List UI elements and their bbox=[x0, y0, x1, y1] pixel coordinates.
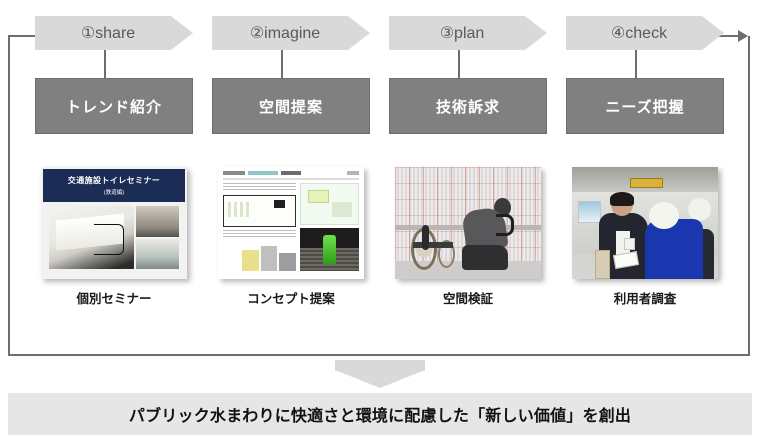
sheet-divider bbox=[223, 178, 359, 180]
step-box-2[interactable]: 空間提案 bbox=[212, 78, 370, 134]
caption-3: 空間検証 bbox=[389, 288, 547, 307]
surveyor-name-badge bbox=[624, 238, 635, 250]
connector-tick-1 bbox=[104, 50, 106, 78]
chevron-step-3[interactable]: ③plan bbox=[389, 16, 547, 50]
surveyor-person bbox=[595, 194, 650, 279]
process-step-imagine[interactable]: ②imagine 空間提案 bbox=[212, 16, 370, 50]
horizontal-grab-bar bbox=[496, 214, 514, 236]
step-box-1[interactable]: トレンド紹介 bbox=[35, 78, 193, 134]
chevron-label-3: ③plan bbox=[440, 23, 485, 43]
concept-proposal-sheet-image bbox=[218, 167, 364, 279]
respondent-1-face-blurred bbox=[649, 202, 679, 229]
step-box-label-1: トレンド紹介 bbox=[66, 96, 162, 117]
sheet-column-left bbox=[223, 183, 296, 271]
mockup-space-photo bbox=[395, 167, 541, 279]
step-box-label-3: 技術訴求 bbox=[436, 96, 500, 117]
respondents bbox=[645, 198, 712, 279]
chevron-label-4: ④check bbox=[611, 23, 667, 43]
thumbnail-3[interactable] bbox=[395, 167, 541, 279]
restroom-photo-column bbox=[136, 206, 179, 269]
chevron-label-1: ①share bbox=[81, 23, 135, 43]
section-cut-diagram bbox=[300, 228, 359, 271]
concept-illustration bbox=[300, 183, 359, 225]
person-legs bbox=[462, 245, 508, 270]
person-transferring bbox=[462, 196, 512, 270]
sheet-text-block-2 bbox=[223, 230, 296, 239]
surveyor-hair bbox=[610, 192, 634, 206]
process-cycle-diagram: ①share トレンド紹介 交通施設トイレセミナー (鉄道編) bbox=[0, 0, 760, 443]
seminar-slide-subtitle: (鉄道編) bbox=[104, 188, 124, 196]
sheet-header-logo bbox=[347, 171, 359, 175]
connector-tick-4 bbox=[635, 50, 637, 78]
sheet-header bbox=[223, 171, 359, 175]
process-step-check[interactable]: ④check ニーズ把握 bbox=[566, 16, 724, 50]
process-step-plan[interactable]: ③plan 技術訴求 bbox=[389, 16, 547, 50]
caption-4: 利用者調査 bbox=[566, 288, 724, 307]
process-step-share[interactable]: ①share トレンド紹介 交通施設トイレセミナー (鉄道編) bbox=[35, 16, 193, 50]
seminar-slide-header: 交通施設トイレセミナー (鉄道編) bbox=[43, 169, 185, 202]
cycle-rail-right bbox=[748, 36, 750, 356]
step-box-3[interactable]: 技術訴求 bbox=[389, 78, 547, 134]
restroom-photo-main bbox=[49, 206, 134, 269]
connector-tick-3 bbox=[458, 50, 460, 78]
step-box-label-4: ニーズ把握 bbox=[605, 96, 684, 117]
respondent-2-face-blurred bbox=[688, 198, 711, 221]
down-arrow-icon bbox=[335, 370, 425, 388]
sheet-column-right bbox=[300, 183, 359, 271]
connector-tick-2 bbox=[281, 50, 283, 78]
seminar-slide-body bbox=[43, 202, 185, 273]
cycle-rail-bottom bbox=[8, 354, 750, 356]
step-box-label-2: 空間提案 bbox=[259, 96, 323, 117]
swatch-2 bbox=[242, 250, 259, 271]
sheet-header-mark-2 bbox=[248, 171, 278, 175]
outcome-banner: パブリック水まわりに快適さと環境に配慮した「新しい価値」を創出 bbox=[8, 393, 752, 435]
seminar-slide-image: 交通施設トイレセミナー (鉄道編) bbox=[41, 167, 187, 279]
thumbnail-4[interactable] bbox=[572, 167, 718, 279]
chevron-step-4[interactable]: ④check bbox=[566, 16, 724, 50]
restroom-photo-bottom bbox=[136, 239, 179, 270]
cycle-rail-left bbox=[8, 36, 10, 356]
user-interview-photo bbox=[572, 167, 718, 279]
step-box-4[interactable]: ニーズ把握 bbox=[566, 78, 724, 134]
chevron-step-1[interactable]: ①share bbox=[35, 16, 193, 50]
caption-2: コンセプト提案 bbox=[212, 288, 370, 307]
paper-bag bbox=[595, 250, 609, 279]
floor-plan-drawing bbox=[223, 195, 296, 227]
caption-1: 個別セミナー bbox=[35, 288, 193, 307]
chevron-label-2: ②imagine bbox=[250, 23, 320, 43]
sheet-header-mark-1 bbox=[223, 171, 245, 175]
wheelchair-seat bbox=[413, 242, 453, 248]
station-sign bbox=[630, 178, 662, 188]
thumbnail-2[interactable] bbox=[218, 167, 364, 279]
respondent-1-jacket bbox=[645, 219, 703, 279]
sheet-header-mark-3 bbox=[281, 171, 301, 175]
restroom-photo-top bbox=[136, 206, 179, 237]
sheet-text-block bbox=[223, 183, 296, 192]
thumbnail-1[interactable]: 交通施設トイレセミナー (鉄道編) bbox=[41, 167, 187, 279]
product-swatch-row bbox=[223, 242, 296, 272]
swatch-3 bbox=[261, 246, 278, 271]
arrow-head-to-loop-icon bbox=[738, 30, 748, 42]
vertical-grab-bar bbox=[422, 225, 429, 251]
seminar-slide-title: 交通施設トイレセミナー bbox=[68, 175, 160, 186]
outcome-banner-text: パブリック水まわりに快適さと環境に配慮した「新しい価値」を創出 bbox=[129, 402, 631, 426]
swatch-4 bbox=[279, 253, 296, 271]
sheet-columns bbox=[223, 183, 359, 271]
chevron-step-2[interactable]: ②imagine bbox=[212, 16, 370, 50]
